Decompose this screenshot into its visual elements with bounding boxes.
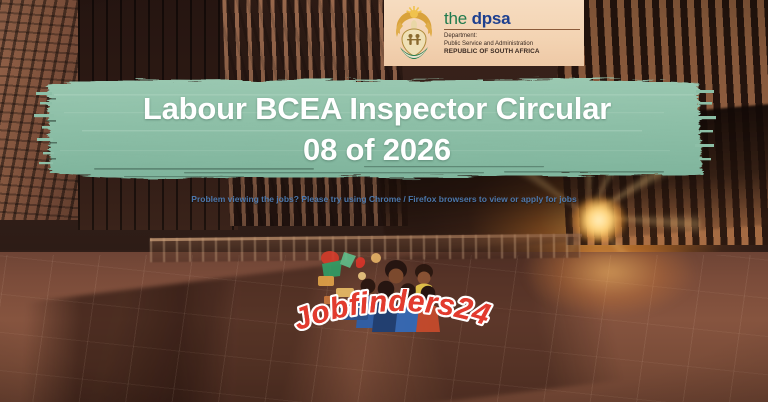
browser-notice: Problem viewing the jobs? Please try usi… [0, 194, 768, 204]
jobfinders24-wordmark: Jobfinders24 Jobfinders24 [288, 288, 500, 344]
svg-text:Jobfinders24: Jobfinders24 [289, 288, 494, 337]
dpsa-wordmark: the dpsa [444, 10, 580, 27]
dpsa-wordmark-the: the [444, 9, 472, 28]
dpsa-logo: the dpsa Department: Public Service and … [384, 0, 584, 66]
dpsa-subtitle-line: Public Service and Administration [444, 40, 580, 48]
banner-image: the dpsa Department: Public Service and … [0, 0, 768, 402]
headline-line-1: Labour BCEA Inspector Circular [143, 89, 611, 130]
dpsa-department-line: Department: [444, 32, 580, 40]
plaza-sun-reflection [500, 250, 720, 360]
headline: Labour BCEA Inspector Circular 08 of 202… [34, 76, 720, 184]
south-african-coat-of-arms-icon [390, 5, 438, 61]
jobfinders24-watermark: Jobfinders24 Jobfinders24 [288, 232, 500, 350]
headline-line-2: 08 of 2026 [303, 130, 451, 171]
dpsa-wordmark-dpsa: dpsa [472, 9, 511, 28]
dpsa-divider [444, 29, 580, 30]
dpsa-country-line: REPUBLIC OF SOUTH AFRICA [444, 48, 580, 57]
